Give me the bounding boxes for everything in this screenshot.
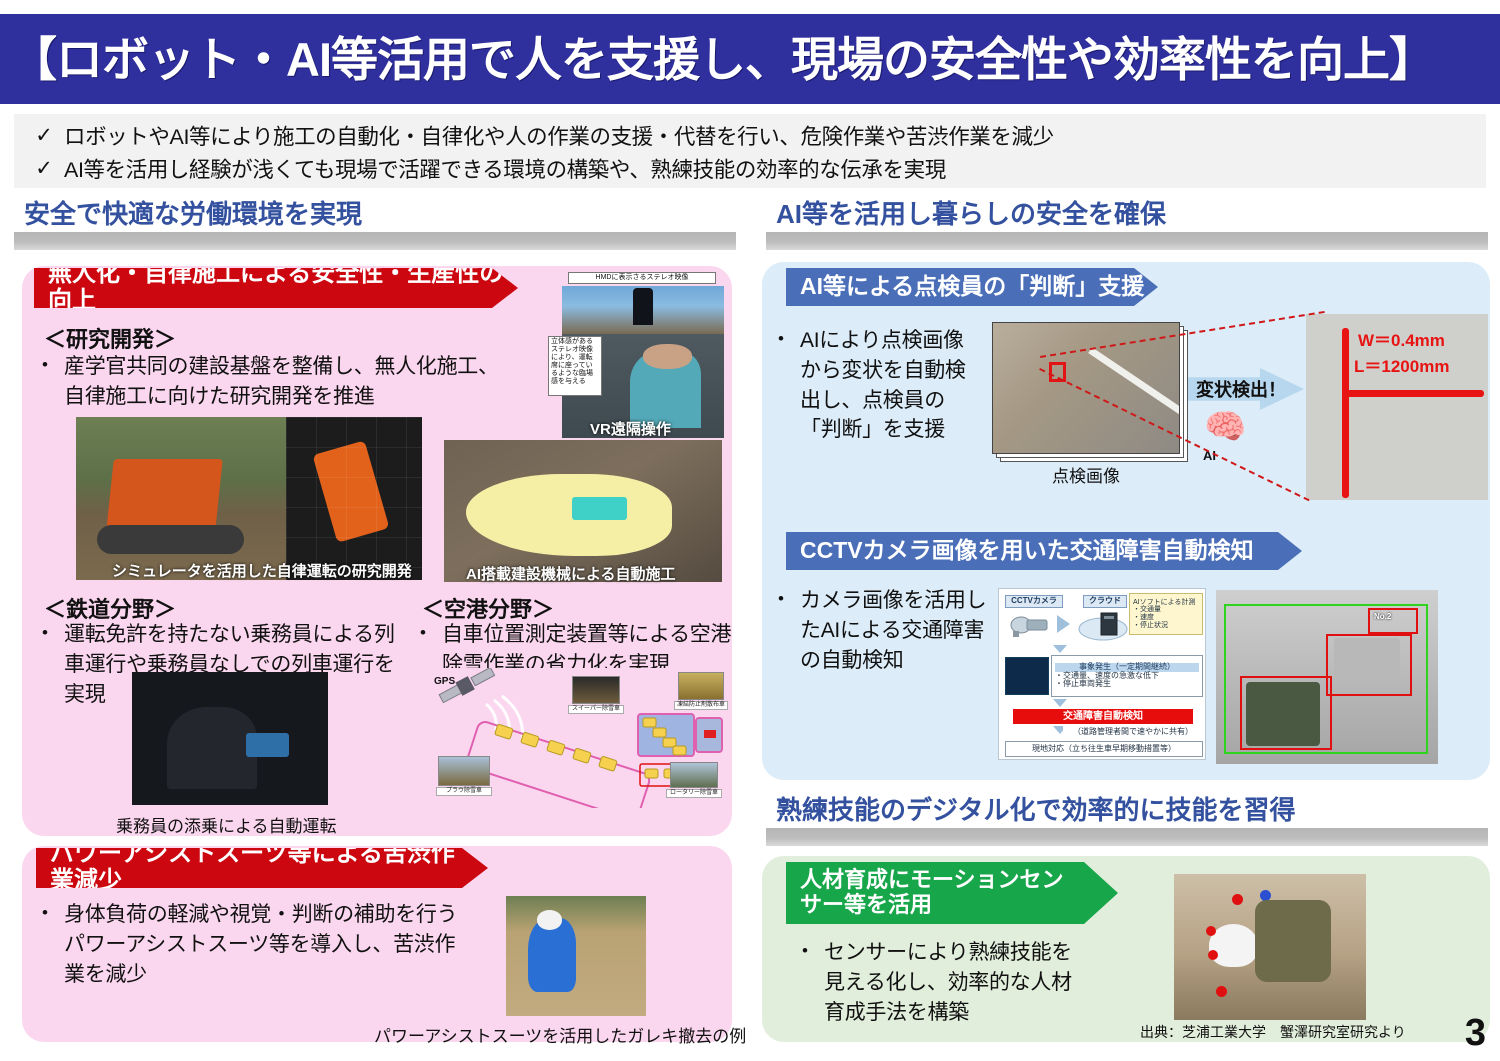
bullet-dot: • <box>420 620 442 646</box>
bullet-text: AIにより点検画像から変状を自動検出し、点検員の「判断」を支援 <box>800 326 984 445</box>
caption-vr-remote-control: VR遠隔操作 <box>590 418 671 439</box>
detection-arrow-label: 変状検出！ <box>1196 376 1286 402</box>
crack-length-annotation: L＝1200mm <box>1354 356 1449 377</box>
gps-thumb-deicer <box>678 672 724 700</box>
flow-detection-banner: 交通障害自動検知 <box>1013 709 1193 724</box>
right-column-heading-text: 熟練技能のデジタル化で効率的に技能を習得 <box>766 796 1488 825</box>
bullet-motion-sensor-training: • センサーにより熟練技能を見える化し、効率的な人材育成手法を構築 <box>802 938 1092 1027</box>
bullet-text: センサーにより熟練技能を見える化し、効率的な人材育成手法を構築 <box>824 938 1092 1027</box>
banner-cctv-traffic-detection: CCTVカメラ画像を用いた交通障害自動検知 <box>786 532 1302 570</box>
right-column-heading-top: AI等を活用し暮らしの安全を確保 <box>766 200 1488 250</box>
check-icon: ✓ <box>24 122 64 150</box>
gps-thumb-label-sweeper: スイーパー除雪車 <box>568 705 624 714</box>
flow-arrow-1 <box>1053 645 1067 653</box>
flow-cloud-label: クラウド <box>1083 595 1127 608</box>
lead-bullet-item: ✓ ロボットやAI等により施工の自動化・自律化や人の作業の支援・代替を行い、危険… <box>24 122 1486 152</box>
subhead-research-development: ＜研究開発＞ <box>44 322 176 354</box>
right-column-heading-text: AI等を活用し暮らしの安全を確保 <box>766 200 1488 229</box>
truck-shape <box>1246 682 1320 746</box>
bullet-dot: • <box>42 620 64 646</box>
photo-motion-capture-training <box>1174 874 1366 1020</box>
banner-unmanned-construction: 無人化・自律施工による安全性・生産性の向上 <box>34 268 518 308</box>
motion-marker-2 <box>1208 950 1218 960</box>
photo-power-assist-suit-debris <box>506 896 646 1016</box>
motion-marker-3 <box>1232 894 1243 905</box>
bullet-text: 身体負荷の軽減や視覚・判断の補助を行うパワーアシストスーツ等を導入し、苦渋作業を… <box>64 900 460 989</box>
bullet-dot: • <box>802 938 824 964</box>
flow-measure-item-2: ・停止状況 <box>1133 622 1168 630</box>
cctv-camera-icon <box>1007 611 1057 637</box>
banner-label: AI等による点検員の「判断」支援 <box>786 271 1156 303</box>
gps-thumb-plow <box>438 756 490 786</box>
heading-underbar <box>14 232 736 250</box>
detection-label-vehicle-2: No.2 <box>1374 612 1391 621</box>
flow-arrow-to-cloud <box>1057 615 1070 633</box>
van-shape <box>1334 638 1400 684</box>
photo-hmd-stereo-view <box>562 286 724 334</box>
bullet-dot: • <box>778 586 800 612</box>
photo-crack-closeup: W＝0.4mm L＝1200mm <box>1306 314 1488 500</box>
ai-network-icon <box>1005 657 1049 695</box>
crack-horizontal <box>1346 390 1484 397</box>
bullet-text: 産学官共同の建設基盤を整備し、無人化施工、自律施工に向けた研究開発を推進 <box>64 352 512 412</box>
motion-marker-1 <box>1206 926 1216 936</box>
caption-crew-assisted-driving: 乗務員の添乗による自動運転 <box>116 812 337 837</box>
heading-underbar <box>766 828 1488 846</box>
heading-underbar <box>766 232 1488 250</box>
left-column-heading-text: 安全で快適な労働環境を実現 <box>14 200 736 229</box>
flow-arrow-2 <box>1053 699 1067 707</box>
page-title: 【ロボット・AI等活用で人を支援し、現場の安全性や効率性を向上】 <box>0 36 1435 83</box>
bullet-dot: • <box>778 326 800 352</box>
gps-thumb-label-rotary: ロータリー除雪車 <box>666 789 722 798</box>
flow-camera-label: CCTVカメラ <box>1005 595 1063 608</box>
flow-share-note: （道路管理者間で速やかに共有） <box>1063 726 1203 739</box>
gps-thumb-rotary <box>670 762 718 788</box>
crack-width-annotation: W＝0.4mm <box>1358 330 1445 351</box>
left-column-heading: 安全で快適な労働環境を実現 <box>14 200 736 250</box>
photo-inspection-image <box>992 322 1180 454</box>
motion-marker-4 <box>1260 890 1271 901</box>
caption-debris-removal-example: パワーアシストスーツを活用したガレキ撤去の例 <box>374 1022 746 1047</box>
diagram-cctv-flow: CCTVカメラ クラウド AIソフトによる計測 ・交通量 ・速度 ・停止状況 事… <box>998 588 1206 760</box>
flow-field-response: 現地対応（立ち往生車早期移動措置等） <box>1005 741 1203 757</box>
right-column-heading-bottom: 熟練技能のデジタル化で効率的に技能を習得 <box>766 796 1488 846</box>
lead-bullet-text: ロボットやAI等により施工の自動化・自律化や人の作業の支援・代替を行い、危険作業… <box>64 122 1054 152</box>
bullet-ai-inspection-support: • AIにより点検画像から変状を自動検出し、点検員の「判断」を支援 <box>778 326 984 445</box>
source-note: 出典：芝浦工業大学 蟹澤研究室研究より <box>1140 1022 1406 1042</box>
photo-cctv-traffic-scene: No.2 No.13 No.1 <box>1216 590 1438 764</box>
bullet-research-development: • 産学官共同の建設基盤を整備し、無人化施工、自律施工に向けた研究開発を推進 <box>42 352 512 412</box>
photo-train-cab <box>132 672 328 805</box>
bullet-text: カメラ画像を活用したAIによる交通障害の自動検知 <box>800 586 996 675</box>
caption-ai-machinery: AI搭載建設機械による自動施工 <box>466 563 676 584</box>
flow-measure-item-1: ・速度 <box>1133 614 1154 622</box>
lead-bullet-item: ✓ AI等を活用し経験が浅くても現場で活躍できる環境の構築や、熟練技能の効率的な… <box>24 155 1486 185</box>
flow-measure-box: AIソフトによる計測 ・交通量 ・速度 ・停止状況 <box>1129 593 1203 635</box>
caption-simulator-research: シミュレータを活用した自律運転の研究開発 <box>112 560 412 581</box>
banner-label: 人材育成にモーションセン サー等を活用 <box>786 865 1076 920</box>
bullet-dot: • <box>42 900 64 926</box>
photo-simulator <box>286 417 422 580</box>
bullet-dot: • <box>42 352 64 378</box>
bullet-power-assist-suit: • 身体負荷の軽減や視覚・判断の補助を行うパワーアシストスーツ等を導入し、苦渋作… <box>42 900 460 989</box>
gps-thumb-label-deicer: 凍結防止剤散布車 <box>674 701 728 710</box>
flow-event-box: 事象発生（一定期間継続） ・交通量、速度の急激な低下 ・停止車両発生 <box>1051 655 1203 697</box>
flow-measure-item-0: ・交通量 <box>1133 606 1161 614</box>
brain-icon: 🧠 <box>1204 410 1246 444</box>
page-number: 3 <box>1465 1012 1486 1055</box>
motion-marker-5 <box>1216 986 1227 997</box>
caption-inspection-images: 点検画像 <box>1052 462 1120 487</box>
crack-vertical <box>1342 328 1349 498</box>
gps-thumb-sweeper <box>572 676 620 704</box>
banner-label: CCTVカメラ画像を用いた交通障害自動検知 <box>786 535 1266 567</box>
banner-power-assist-suit: パワーアシストスーツ等による苦渋作業減少 <box>36 848 488 888</box>
banner-motion-sensor-training: 人材育成にモーションセン サー等を活用 <box>786 862 1118 924</box>
banner-ai-inspection-support: AI等による点検員の「判断」支援 <box>786 268 1158 306</box>
lead-bullet-box: ✓ ロボットやAI等により施工の自動化・自律化や人の作業の支援・代替を行い、危険… <box>14 114 1486 188</box>
slide-root: 【ロボット・AI等活用で人を支援し、現場の安全性や効率性を向上】 ✓ ロボットや… <box>0 0 1500 1061</box>
photo-ai-construction-site <box>444 440 722 582</box>
photo-excavator-field <box>76 417 286 580</box>
label-hmd-stereo: HMDに表示さるステレオ映像 <box>568 272 716 284</box>
check-icon: ✓ <box>24 155 64 183</box>
label-stereo-presence: 立体感があるステレオ映像により、運転席に座っているような臨場感を与える <box>548 336 602 396</box>
diagram-gps-snow-removal: GPS <box>424 668 730 808</box>
gps-thumb-label-plow: プラウ除雪車 <box>436 787 492 796</box>
bullet-cctv-traffic-detection: • カメラ画像を活用したAIによる交通障害の自動検知 <box>778 586 996 675</box>
lead-bullet-text: AI等を活用し経験が浅くても現場で活躍できる環境の構築や、熟練技能の効率的な伝承… <box>64 155 946 185</box>
flow-event-item-1: ・停止車両発生 <box>1055 680 1111 689</box>
slide-title-band: 【ロボット・AI等活用で人を支援し、現場の安全性や効率性を向上】 <box>0 14 1500 104</box>
